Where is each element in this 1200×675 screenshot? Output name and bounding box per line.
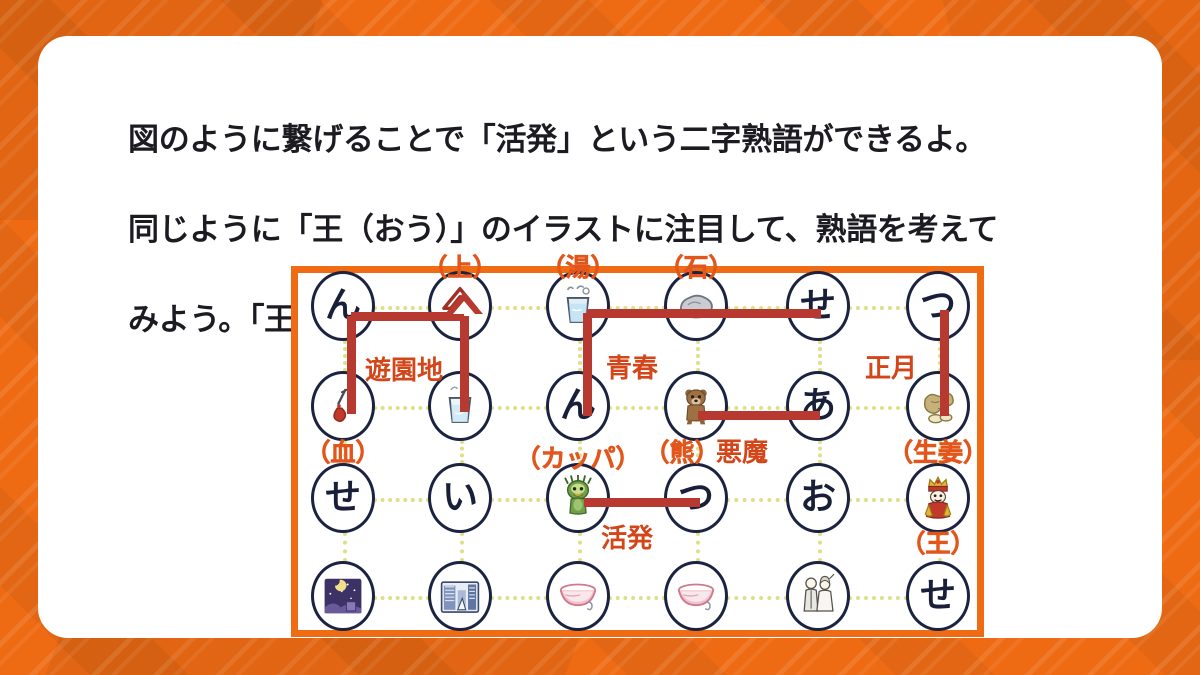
puzzle-cell-r4c5[interactable] bbox=[786, 561, 850, 631]
puzzle-cell-r3c1[interactable]: せ bbox=[311, 463, 375, 533]
night-sky-icon bbox=[320, 573, 366, 619]
cell-kana-label: い bbox=[442, 480, 478, 516]
grid-dotted-connector-vertical bbox=[460, 440, 464, 464]
bear-icon bbox=[673, 383, 719, 429]
cell-reading-label-kappa: （カッパ） bbox=[515, 446, 640, 471]
instruction-line-1: 図のように繋げることで「活発」という二字熟語ができるよ。 bbox=[128, 117, 1108, 162]
cell-kana-label: お bbox=[800, 480, 836, 516]
answer-word-kappatsu: 活発 bbox=[601, 526, 653, 552]
grid-dotted-connector-horizontal bbox=[608, 406, 666, 410]
grid-dotted-connector-vertical bbox=[818, 440, 822, 464]
factory-icon bbox=[437, 573, 483, 619]
puzzle-cell-r4c4[interactable] bbox=[664, 561, 728, 631]
link-seishun-horizontal bbox=[587, 309, 821, 318]
grid-dotted-connector-vertical bbox=[578, 532, 582, 562]
cell-reading-label-ue: （上） bbox=[422, 255, 497, 280]
cell-reading-label-chi: （血） bbox=[305, 440, 380, 465]
grid-dotted-connector-horizontal bbox=[726, 596, 788, 600]
grid-dotted-connector-vertical bbox=[696, 340, 700, 372]
grid-dotted-connector-horizontal bbox=[490, 596, 548, 600]
stone-icon bbox=[673, 283, 719, 329]
grid-dotted-connector-horizontal bbox=[490, 306, 548, 310]
cell-kana-label: つ bbox=[920, 288, 956, 324]
puzzle-cell-r4c2[interactable] bbox=[428, 561, 492, 631]
puzzle-cell-r1c6[interactable]: つ bbox=[906, 271, 970, 341]
puzzle-cell-r4c3[interactable] bbox=[546, 561, 610, 631]
cell-reading-label-shoga: （生姜） bbox=[888, 440, 988, 465]
blood-drop-icon bbox=[320, 383, 366, 429]
cell-reading-label-ou: （王） bbox=[900, 531, 975, 556]
grid-dotted-connector-horizontal bbox=[848, 596, 908, 600]
puzzle-cell-r2c5[interactable]: あ bbox=[786, 371, 850, 441]
puzzle-cell-r1c1[interactable]: ん bbox=[311, 271, 375, 341]
link-yuenchi-vertical-right bbox=[460, 316, 469, 412]
cell-reading-label-ishi: （石） bbox=[658, 255, 733, 280]
grid-dotted-connector-horizontal bbox=[373, 498, 430, 502]
grid-dotted-connector-horizontal bbox=[726, 406, 788, 410]
puzzle-cell-r1c5[interactable]: せ bbox=[786, 271, 850, 341]
bowl-icon bbox=[555, 573, 601, 619]
puzzle-cell-r4c1[interactable] bbox=[311, 561, 375, 631]
instruction-line-2: 同じように「王（おう）」のイラストに注目して、熟語を考えて bbox=[128, 207, 1108, 252]
grid-dotted-connector-horizontal bbox=[848, 406, 908, 410]
grid-dotted-connector-vertical bbox=[818, 340, 822, 372]
ginger-icon bbox=[915, 383, 961, 429]
cell-kana-label: せ bbox=[800, 288, 836, 324]
grid-dotted-connector-horizontal bbox=[726, 498, 788, 502]
cell-kana-label: せ bbox=[920, 578, 956, 614]
link-shogatsu-vertical bbox=[940, 310, 949, 416]
cell-kana-label: せ bbox=[325, 480, 361, 516]
hot-water-glass-icon bbox=[555, 283, 601, 329]
puzzle-cell-r3c2[interactable]: い bbox=[428, 463, 492, 533]
grid-dotted-connector-vertical bbox=[578, 340, 582, 372]
puzzle-grid: んせつんあせいつおせ（上）（湯）（石）（血）（熊）（生姜）（カッパ）（王）遊園地… bbox=[298, 273, 977, 630]
grid-dotted-connector-horizontal bbox=[848, 306, 908, 310]
grid-dotted-connector-horizontal bbox=[373, 596, 430, 600]
grid-dotted-connector-horizontal bbox=[608, 596, 666, 600]
grid-dotted-connector-vertical bbox=[696, 532, 700, 562]
grid-dotted-connector-horizontal bbox=[490, 406, 548, 410]
grid-dotted-connector-vertical bbox=[343, 532, 347, 562]
puzzle-board: んせつんあせいつおせ（上）（湯）（石）（血）（熊）（生姜）（カッパ）（王）遊園地… bbox=[291, 266, 984, 637]
puzzle-cell-r4c6[interactable]: せ bbox=[906, 561, 970, 631]
grid-dotted-connector-horizontal bbox=[848, 498, 908, 502]
cell-reading-label-kuma: （熊） bbox=[644, 440, 719, 465]
cell-reading-label-yu: （湯） bbox=[540, 255, 615, 280]
wedding-couple-icon bbox=[795, 573, 841, 619]
grid-dotted-connector-horizontal bbox=[373, 406, 430, 410]
puzzle-cell-r2c4[interactable] bbox=[664, 371, 728, 441]
link-akuma-horizontal bbox=[698, 411, 820, 420]
link-yuenchi-vertical-left bbox=[347, 316, 356, 414]
answer-word-seishun: 青春 bbox=[606, 356, 658, 382]
answer-word-yuenchi: 遊園地 bbox=[365, 358, 443, 384]
puzzle-cell-r3c6[interactable] bbox=[906, 463, 970, 533]
grid-dotted-connector-vertical bbox=[818, 532, 822, 562]
puzzle-cell-r3c5[interactable]: お bbox=[786, 463, 850, 533]
grid-dotted-connector-horizontal bbox=[373, 306, 430, 310]
grid-dotted-connector-vertical bbox=[460, 532, 464, 562]
king-icon bbox=[915, 475, 961, 521]
content-card: 図のように繋げることで「活発」という二字熟語ができるよ。 同じように「王（おう）… bbox=[38, 36, 1162, 638]
screenshot-root: 図のように繋げることで「活発」という二字熟語ができるよ。 同じように「王（おう）… bbox=[0, 0, 1200, 675]
answer-word-shogatsu: 正月 bbox=[865, 356, 917, 382]
puzzle-cell-r2c3[interactable]: ん bbox=[546, 371, 610, 441]
up-arrow-head-inner bbox=[453, 301, 475, 314]
bowl-icon bbox=[673, 573, 719, 619]
answer-word-akuma: 悪魔 bbox=[716, 440, 768, 466]
link-kappatsu-horizontal bbox=[584, 498, 700, 507]
link-seishun-vertical bbox=[583, 313, 592, 416]
grid-dotted-connector-horizontal bbox=[490, 498, 548, 502]
